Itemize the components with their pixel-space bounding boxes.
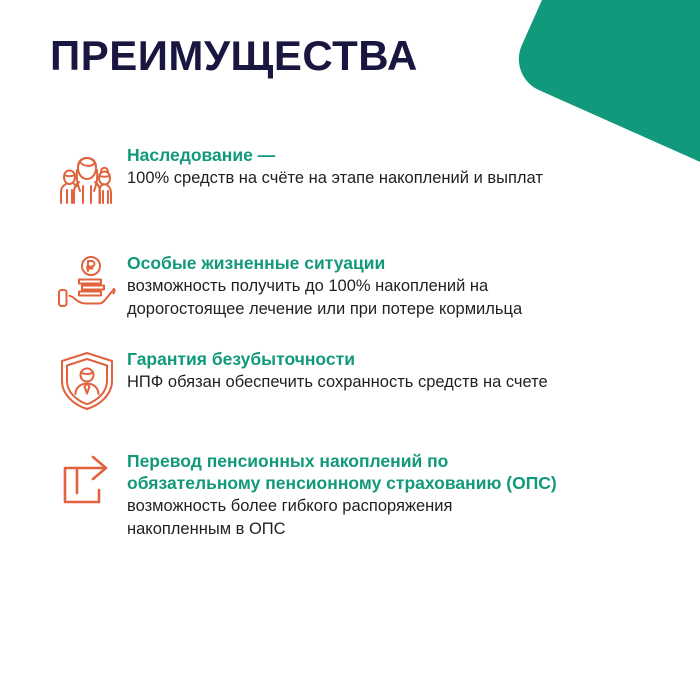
list-item-text: Особые жизненные ситуации возможность по… [127, 248, 557, 321]
list-item-body: возможность получить до 100% накоплений … [127, 275, 557, 321]
advantages-list: Наследование — 100% средств на счёте на … [0, 140, 700, 541]
list-item-heading: Особые жизненные ситуации [127, 252, 557, 274]
family-group-icon [55, 140, 127, 218]
page-title: ПРЕИМУЩЕСТВА [50, 31, 418, 81]
list-item-heading: Гарантия безубыточности [127, 348, 557, 370]
list-item: Гарантия безубыточности НПФ обязан обесп… [0, 344, 700, 422]
list-item: Наследование — 100% средств на счёте на … [0, 140, 700, 218]
list-item: Особые жизненные ситуации возможность по… [0, 248, 700, 326]
slide-root: ПРЕИМУЩЕСТВА [0, 0, 700, 700]
list-item-text: Перевод пенсионных накоплений по обязате… [127, 446, 557, 541]
list-item-heading: Перевод пенсионных накоплений по обязате… [127, 450, 557, 494]
hand-with-ruble-coins-icon [55, 248, 127, 326]
list-item-body: возможность более гибкого распоряжения н… [127, 495, 557, 541]
shield-with-person-icon [55, 344, 127, 422]
list-item-heading: Наследование — [127, 144, 557, 166]
list-item: Перевод пенсионных накоплений по обязате… [0, 446, 700, 541]
list-item-text: Наследование — 100% средств на счёте на … [127, 140, 557, 190]
export-arrow-icon [55, 446, 127, 524]
list-item-body: 100% средств на счёте на этапе накоплени… [127, 167, 557, 190]
list-item-text: Гарантия безубыточности НПФ обязан обесп… [127, 344, 557, 394]
list-item-body: НПФ обязан обеспечить сохранность средст… [127, 371, 557, 394]
